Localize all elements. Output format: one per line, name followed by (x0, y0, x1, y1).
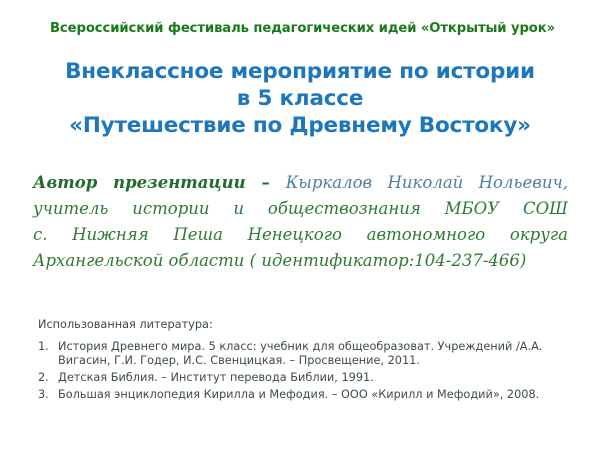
list-item-number: 2. (38, 371, 49, 386)
author-line-2: учитель истории и обществознания МБОУ СО… (33, 196, 568, 222)
author-line-3: с. Нижняя Пеша Ненецкого автономного окр… (33, 222, 568, 248)
title-line-2: в 5 классе (20, 85, 580, 112)
list-item-text: Детская Библия. – Институт перевода Библ… (58, 371, 568, 386)
list-item-number: 1. (38, 340, 49, 355)
list-item-number: 3. (38, 388, 49, 403)
list-item: 1. История Древнего мира. 5 класс: учебн… (38, 340, 568, 369)
author-block: Автор презентации – Кыркалов Николай Нол… (33, 170, 568, 274)
title-line-1: Внеклассное мероприятие по истории (20, 58, 580, 85)
list-item-text: История Древнего мира. 5 класс: учебник … (58, 340, 568, 369)
page-title: Внеклассное мероприятие по истории в 5 к… (20, 58, 580, 139)
presentation-title-slide: Всероссийский фестиваль педагогических и… (0, 0, 600, 450)
author-line-1: Автор презентации – Кыркалов Николай Нол… (33, 170, 568, 196)
festival-header: Всероссийский фестиваль педагогических и… (30, 21, 575, 36)
author-identifier: 104-237-466) (414, 251, 526, 270)
author-name: Кыркалов Николай Нольевич, (286, 173, 568, 192)
references-list: 1. История Древнего мира. 5 класс: учебн… (38, 340, 568, 403)
list-item: 2. Детская Библия. – Институт перевода Б… (38, 371, 568, 386)
title-line-3: «Путешествие по Древнему Востоку» (20, 112, 580, 139)
list-item-text: Большая энциклопедия Кирилла и Мефодия. … (58, 388, 568, 403)
author-line-4: Архангельской области ( идентификатор:10… (33, 248, 568, 274)
references-section: Использованная литература: 1. История Др… (38, 318, 568, 405)
author-region: Архангельской области ( идентификатор: (33, 251, 414, 270)
list-item: 3. Большая энциклопедия Кирилла и Мефоди… (38, 388, 568, 403)
references-heading: Использованная литература: (38, 318, 568, 333)
author-label: Автор презентации – (33, 173, 286, 192)
